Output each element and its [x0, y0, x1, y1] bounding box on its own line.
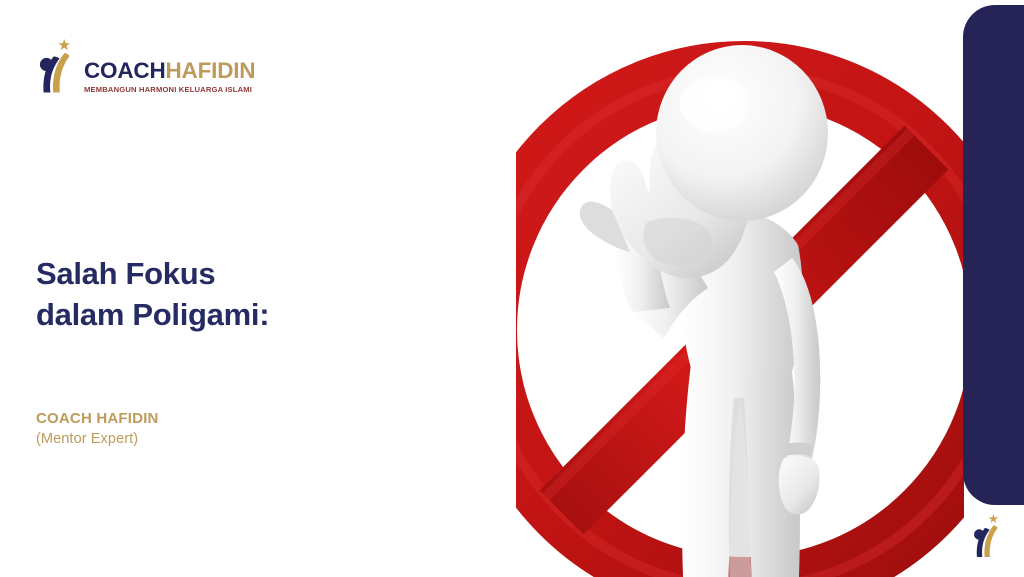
- stop-gesture-prohibition-illustration: [516, 0, 964, 577]
- coach-hafidin-corner-logo-mark-icon: [969, 512, 1003, 564]
- headline-line-1: Salah Fokus: [36, 253, 476, 294]
- coach-hafidin-logo-mark-icon: [34, 36, 76, 100]
- hero-image-panel: [516, 0, 964, 577]
- brand-logo: COACHHAFIDIN MEMBANGUN HARMONI KELUARGA …: [34, 36, 255, 100]
- brand-wordmark-hafidin: HAFIDIN: [166, 58, 256, 83]
- slide-headline: Salah Fokus dalam Poligami:: [36, 253, 476, 335]
- brand-wordmark-line: COACHHAFIDIN: [84, 60, 255, 83]
- presentation-slide: COACHHAFIDIN MEMBANGUN HARMONI KELUARGA …: [0, 0, 1024, 577]
- presenter-name: COACH HAFIDIN: [36, 410, 159, 429]
- left-content-column: COACHHAFIDIN MEMBANGUN HARMONI KELUARGA …: [0, 0, 516, 577]
- brand-tagline: MEMBANGUN HARMONI KELUARGA ISLAMI: [84, 85, 255, 94]
- presenter-block: COACH HAFIDIN (Mentor Expert): [36, 410, 159, 449]
- right-navy-accent-bar: [963, 5, 1024, 505]
- headline-line-2: dalam Poligami:: [36, 294, 476, 335]
- brand-wordmark: COACHHAFIDIN MEMBANGUN HARMONI KELUARGA …: [84, 60, 255, 95]
- presenter-role: (Mentor Expert): [36, 430, 159, 450]
- brand-wordmark-coach: COACH: [84, 58, 166, 83]
